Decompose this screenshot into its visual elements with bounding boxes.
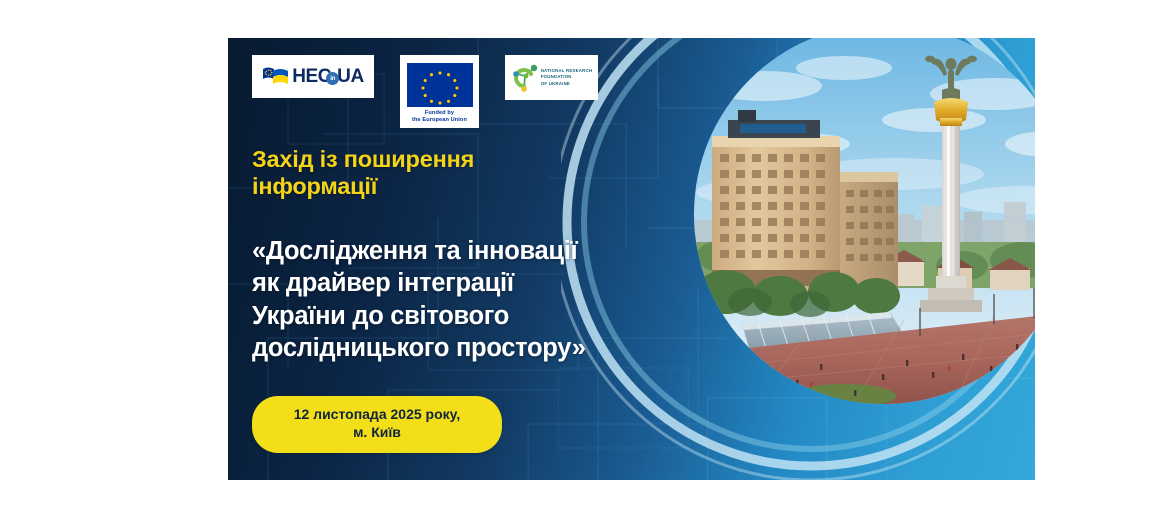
logo-nrfu-text-line-3: OF UKRAINE bbox=[541, 81, 592, 87]
logo-hec-word-right: UA bbox=[337, 66, 364, 87]
logo-nrfu-text: NATIONAL RESEARCH FOUNDATION OF UKRAINE bbox=[541, 68, 592, 87]
eu-ukraine-flags-icon bbox=[262, 65, 292, 89]
logo-eu-caption: Funded by the European Union bbox=[412, 110, 467, 124]
event-type-line-1: Захід із поширення bbox=[252, 146, 702, 173]
event-title: «Дослідження та інновації як драйвер інт… bbox=[252, 235, 702, 365]
event-title-line-3: України до світового bbox=[252, 300, 702, 332]
logo-eu-caption-line-1: Funded by bbox=[412, 110, 467, 117]
event-title-line-4: дослідницького простору» bbox=[252, 332, 702, 364]
logo-national-research-foundation-of-ukraine: NATIONAL RESEARCH FOUNDATION OF UKRAINE bbox=[505, 55, 598, 100]
logo-row: HECinUA bbox=[252, 55, 598, 128]
event-location: м. Київ bbox=[266, 424, 488, 442]
event-title-line-1: «Дослідження та інновації bbox=[252, 235, 702, 267]
eu-flag-icon bbox=[407, 63, 473, 107]
event-type-heading: Захід із поширення інформації bbox=[252, 146, 702, 201]
event-date-location-badge: 12 листопада 2025 року, м. Київ bbox=[252, 396, 502, 453]
event-date: 12 листопада 2025 року, bbox=[266, 406, 488, 424]
screenshot-canvas: HECinUA bbox=[0, 0, 1167, 509]
logo-hec-in-ua: HECinUA bbox=[252, 55, 374, 98]
logo-funded-by-eu: Funded by the European Union bbox=[400, 55, 479, 128]
event-type-line-2: інформації bbox=[252, 173, 702, 200]
banner-copy: Захід із поширення інформації «Досліджен… bbox=[252, 146, 702, 364]
logo-eu-caption-line-2: the European Union bbox=[412, 117, 467, 124]
event-announcement-banner: HECinUA bbox=[228, 38, 1035, 480]
event-title-line-2: як драйвер інтеграції bbox=[252, 267, 702, 299]
logo-hec-wordmark: HECinUA bbox=[292, 66, 364, 88]
molecule-node-icon bbox=[511, 62, 541, 94]
